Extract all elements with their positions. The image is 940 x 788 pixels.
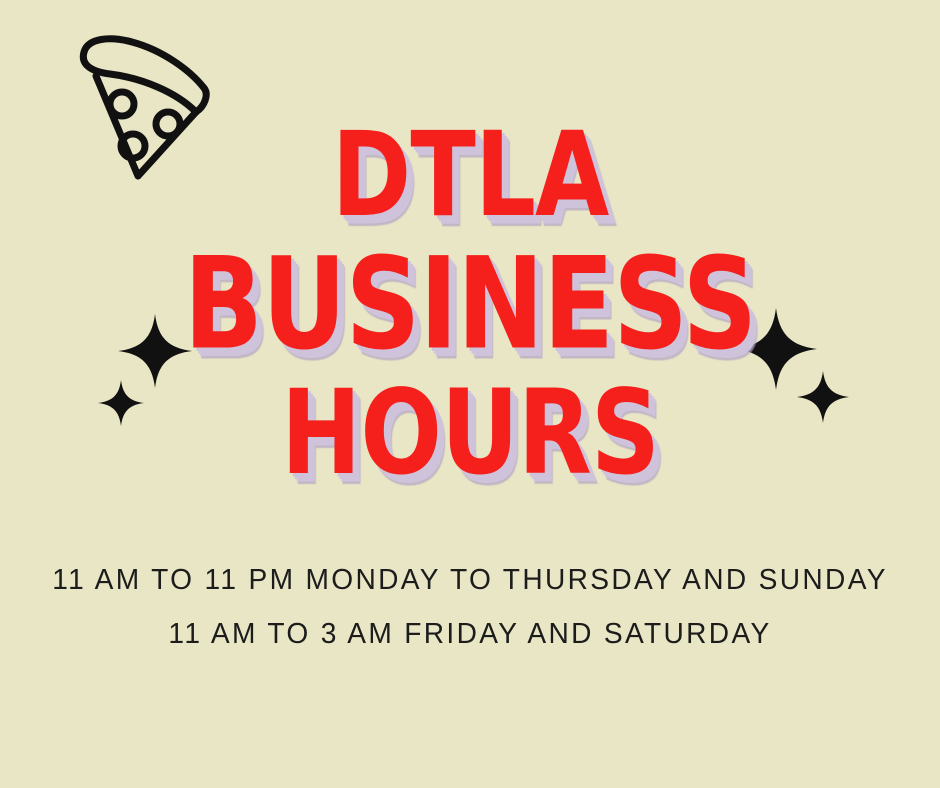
hours-line-weekday: 11 AM TO 11 PM MONDAY TO THURSDAY AND SU… [14,566,926,595]
hours-line-weekend: 11 AM TO 3 AM FRIDAY AND SATURDAY [14,620,926,649]
headline-line-dtla: DTLA [0,116,940,233]
headline-line-business: BUSINESS [0,240,940,367]
business-hours-poster: DTLA BUSINESS HOURS 11 AM TO 11 PM MONDA… [0,0,940,788]
headline-line-hours: HOURS [0,374,940,491]
poster-headline: DTLA BUSINESS HOURS [0,116,940,470]
business-hours-list: 11 AM TO 11 PM MONDAY TO THURSDAY AND SU… [0,566,940,649]
